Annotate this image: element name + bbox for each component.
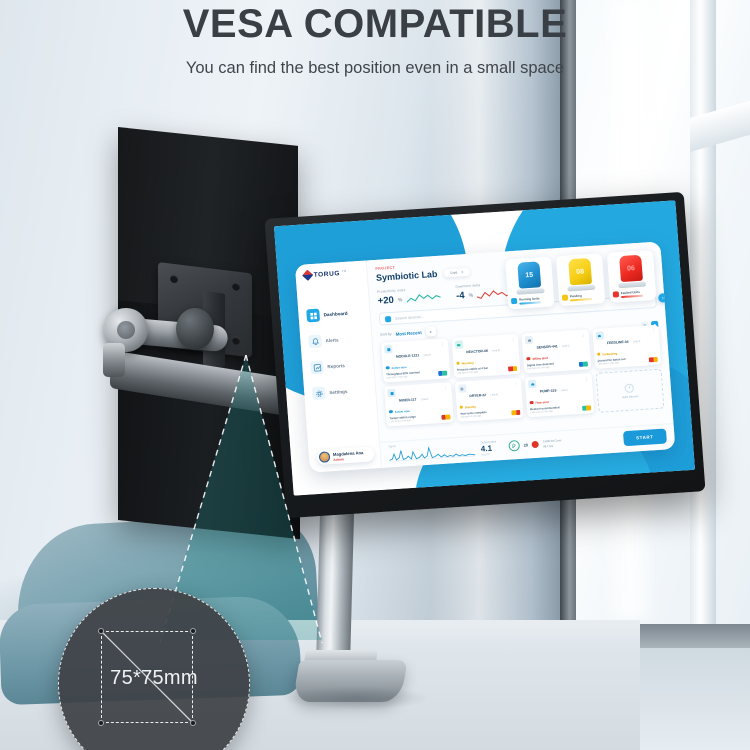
add-device-card[interactable]: + Add device — [595, 369, 664, 413]
beacon-light-blue: 15 — [517, 261, 541, 288]
device-line: Line B — [490, 393, 498, 396]
device-icon — [384, 345, 393, 353]
filter-label: Sort by — [380, 332, 392, 337]
device-chip — [438, 371, 447, 377]
monitor-screen: TORUG TM Dashboard — [274, 200, 695, 495]
device-icon — [454, 340, 463, 348]
device-chip — [511, 410, 520, 416]
beacon-status-icon — [562, 295, 568, 301]
device-name: MODULE-1221 — [396, 353, 420, 358]
vesa-spec-label: 75*75mm — [59, 667, 249, 690]
avatar — [319, 451, 331, 463]
brand-logo[interactable]: TORUG TM — [303, 268, 360, 280]
device-card[interactable]: DRYER-22 Line B ⋮ Standby Heat cycle com… — [454, 378, 523, 422]
beacon-light-red: 06 — [619, 255, 643, 282]
beacon-light-yellow: 08 — [568, 258, 592, 285]
card-menu-icon[interactable]: ⋮ — [444, 385, 448, 390]
page-subtitle: You can find the best position even in a… — [0, 59, 750, 78]
sidebar-item-label: Reports — [327, 363, 345, 369]
page-title: VESA COMPATIBLE — [0, 2, 750, 47]
status-dot — [459, 405, 463, 409]
metric-unit: % — [398, 297, 403, 303]
device-line: Line C — [561, 389, 569, 392]
vesa-screw-hole — [232, 336, 240, 345]
status-badge: Flow error — [535, 399, 549, 404]
beacon-base — [567, 285, 595, 292]
status-dot — [389, 410, 393, 414]
device-card[interactable]: SENSOR-441 Line C ⋮ Offline alert Signal… — [522, 329, 591, 373]
device-chip — [581, 405, 590, 411]
vesa-screw-hole — [232, 282, 240, 291]
product-scene: TORUG TM Dashboard — [0, 0, 750, 750]
logo-diamond-icon — [302, 270, 313, 281]
device-chip — [508, 366, 517, 372]
status-badge: Calibrating — [602, 351, 617, 356]
leaf-icon[interactable] — [508, 440, 520, 452]
device-name: DRYER-22 — [469, 393, 486, 398]
status-badge: Standby — [465, 404, 477, 409]
monitor-bezel: TORUG TM Dashboard — [264, 192, 705, 518]
status-badge: Warming — [461, 360, 474, 365]
device-name: SENSOR-441 — [536, 344, 557, 349]
beacon-progress-bar — [519, 301, 541, 304]
control-meta-line: 98.1 fps — [543, 443, 562, 448]
device-card[interactable]: REACTOR-08 Line B ⋮ Warming Pressure sta… — [451, 334, 520, 378]
user-role: Admin — [333, 456, 364, 462]
beacon-count: 15 — [525, 271, 533, 278]
vesa-screw-point — [190, 628, 196, 634]
search-icon — [385, 315, 391, 321]
device-chip — [578, 361, 587, 367]
sidebar-item-settings[interactable]: Settings — [312, 384, 370, 401]
device-name: REACTOR-08 — [466, 349, 488, 354]
beacon-status-icon — [511, 298, 517, 304]
beacon-card[interactable]: 06 Faulted Units — [607, 250, 657, 303]
beacon-status-icon — [613, 292, 619, 298]
monitor: TORUG TM Dashboard — [264, 192, 705, 518]
add-device-label: Add device — [622, 394, 638, 399]
device-icon — [458, 384, 467, 392]
card-menu-icon[interactable]: ⋮ — [651, 328, 655, 333]
device-name: MIXER-117 — [399, 398, 417, 403]
vesa-screw-point — [98, 628, 104, 634]
title-block: VESA COMPATIBLE You can find the best po… — [0, 0, 750, 78]
card-menu-icon[interactable]: ⋮ — [584, 376, 588, 381]
beacon-progress-bar — [570, 298, 592, 301]
device-card[interactable]: PUMP-319 Line C ⋮ Flow error Restart rec… — [525, 373, 594, 417]
device-chip — [441, 414, 450, 420]
record-icon[interactable] — [532, 441, 539, 448]
filter-dropdown-button[interactable]: ▾ — [425, 326, 436, 337]
chevron-down-icon: ▾ — [461, 270, 463, 274]
device-line: Line B — [492, 349, 500, 352]
page-title: Symbiotic Lab — [376, 269, 438, 283]
control-group: 28 CH08 60 Conn 98.1 fps — [508, 437, 562, 451]
vesa-screw-point — [190, 720, 196, 726]
filter-value[interactable]: Most Recent — [395, 330, 421, 337]
beacon-count: 08 — [576, 268, 584, 275]
sidebar-item-reports[interactable]: Reports — [310, 358, 368, 375]
status-dot — [456, 361, 460, 365]
device-line: Line D — [421, 398, 429, 401]
device-line: Line A — [633, 340, 640, 343]
grid-icon — [306, 309, 320, 323]
beacon-base — [516, 288, 544, 295]
device-icon — [387, 389, 396, 397]
beacon-card[interactable]: 15 Running Units — [505, 257, 555, 310]
trademark-mark: TM — [342, 269, 347, 273]
stand-shadow — [280, 686, 430, 710]
chart-icon — [310, 360, 324, 374]
sidebar-item-label: Dashboard — [323, 311, 347, 318]
brand-name: TORUG — [313, 270, 340, 279]
card-menu-icon[interactable]: ⋮ — [514, 381, 518, 386]
device-name: PUMP-319 — [540, 388, 557, 393]
device-icon — [525, 336, 534, 344]
control-count: 28 — [523, 442, 528, 447]
beacon-progress-bar — [621, 295, 643, 298]
device-icon — [595, 331, 604, 339]
sidebar-item-label: Settings — [329, 389, 347, 395]
card-menu-icon[interactable]: ⋮ — [440, 342, 444, 347]
metric-value: -4 — [456, 290, 465, 302]
user-profile-chip[interactable]: Magdalena Ana Admin — [317, 446, 375, 465]
kpi-unit: avg / hr — [481, 452, 497, 456]
status-badge: Active now — [394, 408, 410, 413]
device-icon — [528, 380, 537, 388]
status-dot — [386, 366, 390, 370]
vesa-screw-point — [98, 720, 104, 726]
status-pill-label: Live — [450, 271, 457, 275]
device-grid-area: ☰ ■ MODULE-1221 Line A — [373, 324, 674, 442]
beacon-base — [618, 281, 646, 288]
sidebar-item-alerts[interactable]: Alerts — [308, 332, 366, 349]
device-line: Line C — [562, 345, 570, 348]
beacon-card[interactable]: 08 Pending — [556, 253, 606, 306]
dashboard-app: TORUG TM Dashboard — [295, 241, 675, 472]
beacon-status-strip: 15 Running Units — [505, 250, 656, 309]
search-placeholder: Search devices... — [395, 314, 424, 320]
device-card[interactable]: MIXER-117 Line D ⋮ Active now Torque wit… — [384, 382, 453, 426]
status-dot — [597, 352, 601, 356]
card-menu-icon[interactable]: ⋮ — [511, 337, 515, 342]
metric-value: +20 — [377, 295, 394, 307]
sidebar-item-dashboard[interactable]: Dashboard — [306, 306, 364, 323]
beacon-count: 06 — [627, 265, 635, 272]
arm-end-cap — [103, 343, 125, 377]
status-badge: Offline alert — [532, 355, 548, 360]
start-button[interactable]: START — [623, 428, 667, 446]
status-pill[interactable]: Live ▾ — [443, 268, 470, 278]
device-line: Line A — [424, 353, 431, 356]
vesa-screw-hole — [170, 274, 178, 283]
device-name: FEEDLINE-04 — [607, 340, 629, 345]
sidebar-item-label: Alerts — [325, 337, 338, 343]
device-card-grid: MODULE-1221 Line A ⋮ Active now Throughp… — [381, 325, 665, 427]
bell-icon — [308, 335, 322, 349]
status-dot — [529, 401, 533, 405]
metric-unit: % — [468, 292, 473, 298]
status-dot — [526, 357, 530, 361]
ball-joint — [176, 308, 214, 350]
signal-waveform: Signal — [388, 440, 475, 463]
card-menu-icon[interactable]: ⋮ — [581, 332, 585, 337]
status-badge: Active now — [391, 365, 407, 370]
plus-icon: + — [625, 383, 635, 393]
device-card[interactable]: MODULE-1221 Line A ⋮ Active now Throughp… — [381, 338, 450, 382]
device-chip — [649, 357, 658, 363]
gear-icon — [312, 386, 326, 400]
output-kpi: Output index 4.1 avg / hr — [480, 439, 497, 456]
device-card[interactable]: FEEDLINE-04 Line A ⋮ Calibrating Queued … — [592, 325, 661, 369]
